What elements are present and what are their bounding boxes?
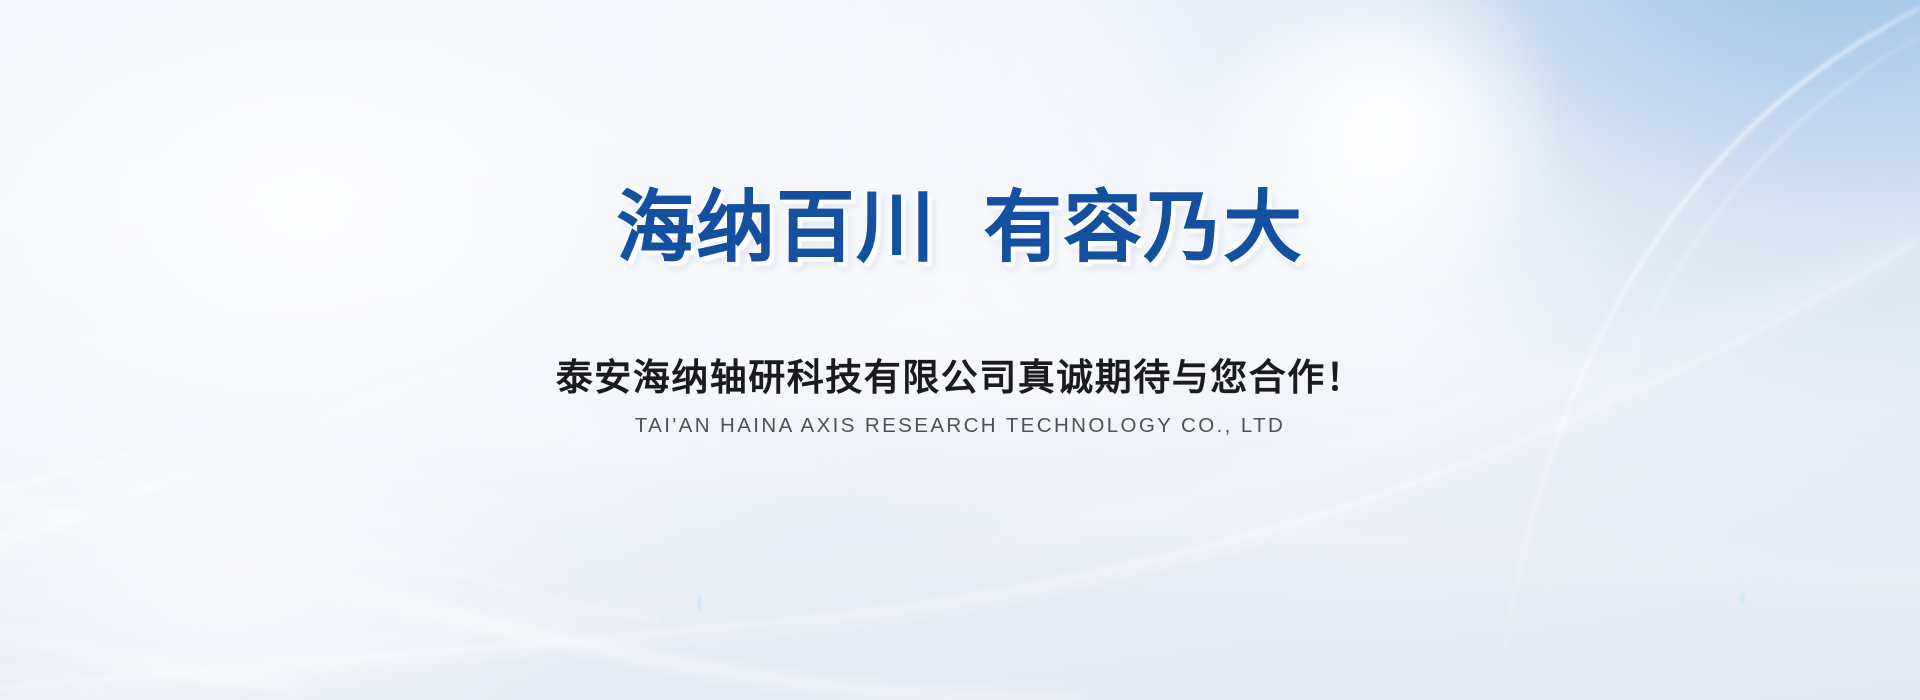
banner-content: 海纳百川 有容乃大 泰安海纳轴研科技有限公司真诚期待与您合作！ TAI'AN H… [0, 0, 1920, 700]
banner-headline: 海纳百川 有容乃大 [616, 186, 1303, 269]
hero-banner: 海纳百川 有容乃大 泰安海纳轴研科技有限公司真诚期待与您合作！ TAI'AN H… [0, 0, 1920, 700]
banner-subtitle-english: TAI'AN HAINA AXIS RESEARCH TECHNOLOGY CO… [635, 414, 1285, 438]
banner-subtitle-chinese: 泰安海纳轴研科技有限公司真诚期待与您合作！ [556, 347, 1365, 401]
